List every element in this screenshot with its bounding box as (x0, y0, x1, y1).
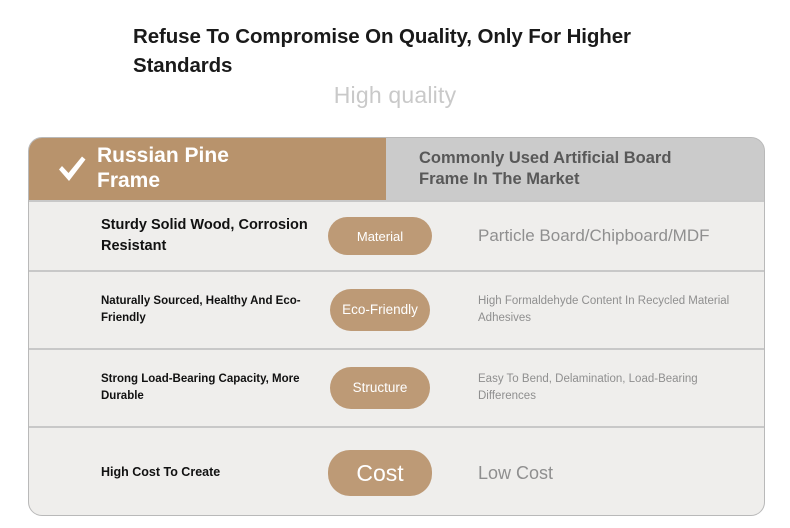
row-right-value: Low Cost (436, 461, 764, 485)
table-row: Strong Load-Bearing Capacity, More Durab… (29, 350, 764, 426)
header-label-left: Russian Pine Frame (97, 144, 277, 194)
comparison-infographic: Refuse To Compromise On Quality, Only Fo… (0, 0, 790, 528)
row-left-value: Naturally Sourced, Healthy And Eco-Frien… (29, 293, 324, 326)
header-label-right: Commonly Used Artificial Board Frame In … (419, 148, 719, 190)
row-left-value: High Cost To Create (29, 464, 324, 482)
row-right-value: Particle Board/Chipboard/MDF (436, 225, 764, 248)
check-icon (56, 154, 88, 184)
table-row: Sturdy Solid Wood, Corrosion Resistant M… (29, 202, 764, 270)
row-left-value: Sturdy Solid Wood, Corrosion Resistant (29, 215, 324, 256)
row-pill-container: Material (324, 217, 436, 255)
row-pill-container: Structure (324, 367, 436, 409)
page-title: Refuse To Compromise On Quality, Only Fo… (133, 22, 663, 80)
category-pill-eco-friendly: Eco-Friendly (330, 289, 430, 331)
table-header-row: Russian Pine Frame Commonly Used Artific… (29, 138, 764, 200)
category-pill-structure: Structure (330, 367, 430, 409)
category-pill-material: Material (328, 217, 432, 255)
table-row: Naturally Sourced, Healthy And Eco-Frien… (29, 272, 764, 348)
header-cell-market-board: Commonly Used Artificial Board Frame In … (386, 138, 764, 200)
table-row: High Cost To Create Cost Low Cost (29, 428, 764, 516)
page-subtitle: High quality (0, 82, 790, 109)
row-pill-container: Cost (324, 450, 436, 496)
row-right-value: High Formaldehyde Content In Recycled Ma… (436, 293, 764, 328)
row-pill-container: Eco-Friendly (324, 289, 436, 331)
row-left-value: Strong Load-Bearing Capacity, More Durab… (29, 371, 324, 404)
category-pill-cost: Cost (328, 450, 432, 496)
header-cell-russian-pine: Russian Pine Frame (29, 138, 386, 200)
comparison-table: Russian Pine Frame Commonly Used Artific… (28, 137, 765, 516)
row-right-value: Easy To Bend, Delamination, Load-Bearing… (436, 371, 764, 406)
